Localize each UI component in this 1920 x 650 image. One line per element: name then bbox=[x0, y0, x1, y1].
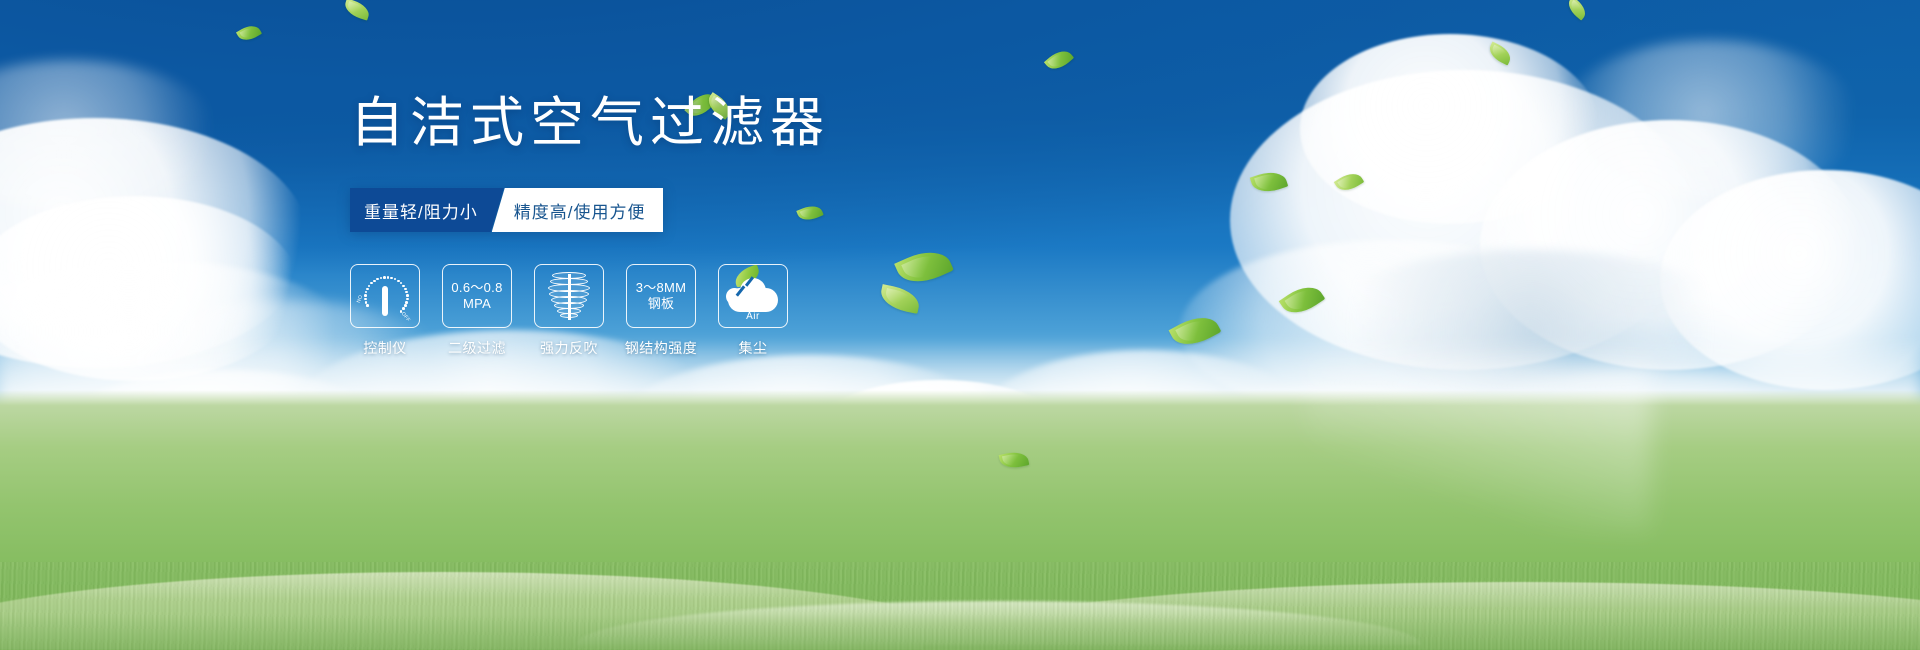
feature-row: NO OFF 控制仪 0.6～0.8 MPA 二级过滤 bbox=[350, 264, 1050, 358]
hero-content: 自洁式空气过滤器 重量轻/阻力小 精度高/使用方便 NO OFF bbox=[350, 96, 1050, 358]
gauge-tick-dot bbox=[380, 277, 383, 280]
tag-primary: 重量轻/阻力小 bbox=[350, 188, 504, 232]
feature-label-blowback: 强力反吹 bbox=[540, 338, 598, 358]
tag-row: 重量轻/阻力小 精度高/使用方便 bbox=[350, 188, 674, 232]
feature-item-steel: 3～8MM 钢板 钢结构强度 bbox=[626, 264, 696, 358]
gauge-tick-dot bbox=[404, 288, 407, 291]
gauge-label-off: OFF bbox=[400, 311, 411, 323]
gauge-tick-dot bbox=[402, 285, 405, 288]
feature-box-controller: NO OFF bbox=[350, 264, 420, 328]
feature-box-blowback bbox=[534, 264, 604, 328]
feature-item-controller: NO OFF 控制仪 bbox=[350, 264, 420, 358]
gauge-tick-dot bbox=[406, 298, 409, 301]
cloud-puff-large bbox=[740, 278, 766, 304]
gauge-tick-dot bbox=[366, 304, 369, 307]
cloud-air-icon: Air bbox=[724, 272, 782, 320]
cloud-air-caption: Air bbox=[724, 311, 782, 322]
gauge-tick-dot bbox=[387, 276, 390, 279]
gauge-dial-icon: NO OFF bbox=[357, 270, 413, 322]
feature-label-dust: 集尘 bbox=[739, 338, 768, 358]
tag-secondary-label: 精度高/使用方便 bbox=[514, 198, 646, 223]
feature-item-blowback: 强力反吹 bbox=[534, 264, 604, 358]
page-title: 自洁式空气过滤器 bbox=[350, 96, 1050, 150]
gauge-tick-dot bbox=[402, 307, 405, 310]
gauge-tick-dot bbox=[383, 276, 386, 279]
coil-blowback-icon bbox=[546, 270, 592, 322]
feature-item-filtration: 0.6～0.8 MPA 二级过滤 bbox=[442, 264, 512, 358]
gauge-tick-dot bbox=[366, 288, 369, 291]
feature-label-steel: 钢结构强度 bbox=[625, 338, 698, 358]
gauge-tick-dot bbox=[406, 294, 409, 297]
tag-primary-label: 重量轻/阻力小 bbox=[364, 198, 478, 223]
feature-box-filtration: 0.6～0.8 MPA bbox=[442, 264, 512, 328]
gauge-tick-dot bbox=[365, 291, 368, 294]
tag-secondary: 精度高/使用方便 bbox=[492, 188, 664, 232]
gauge-tick-dot bbox=[370, 282, 373, 285]
feature-label-controller: 控制仪 bbox=[363, 338, 407, 358]
feature-box-dust: Air bbox=[718, 264, 788, 328]
gauge-tick-dot bbox=[405, 291, 408, 294]
gauge-tick-dot bbox=[364, 298, 367, 301]
cloud-right-e bbox=[1560, 40, 1860, 200]
pressure-text-icon: 0.6～0.8 MPA bbox=[451, 280, 502, 313]
gauge-tick-dot bbox=[390, 277, 393, 280]
feature-box-steel: 3～8MM 钢板 bbox=[626, 264, 696, 328]
gauge-tick-dot bbox=[376, 278, 379, 281]
feature-item-dust: Air 集尘 bbox=[718, 264, 788, 358]
feature-label-filtration: 二级过滤 bbox=[448, 338, 506, 358]
gauge-tick-dot bbox=[368, 285, 371, 288]
gauge-tick-dot bbox=[405, 301, 408, 304]
sun-light-shaft bbox=[1306, 364, 1652, 533]
grass-foreground-shade bbox=[0, 614, 1920, 650]
gauge-needle bbox=[382, 286, 388, 316]
coil-ring bbox=[560, 313, 578, 318]
gauge-tick-dot bbox=[365, 301, 368, 304]
steel-plate-text-icon: 3～8MM 钢板 bbox=[636, 280, 687, 313]
hero-banner: 自洁式空气过滤器 重量轻/阻力小 精度高/使用方便 NO OFF bbox=[0, 0, 1920, 650]
gauge-tick-dot bbox=[373, 280, 376, 283]
